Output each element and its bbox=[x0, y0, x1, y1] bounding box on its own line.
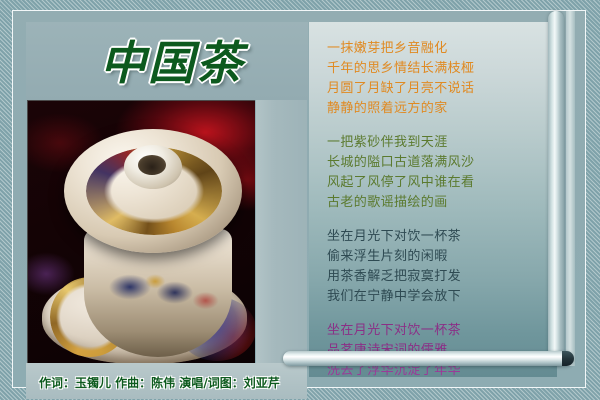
lyrics-stanza: 坐在月光下对饮一杯茶 偷来浮生片刻的闲暇 用茶香解乏把寂寞打发 我们在宁静中学会… bbox=[327, 227, 551, 307]
lyrics-line: 用茶香解乏把寂寞打发 bbox=[327, 267, 551, 287]
lyrics-line: 偷来浮生片刻的闲暇 bbox=[327, 247, 551, 267]
lyrics-line: 月圆了月缺了月亮不说话 bbox=[327, 79, 551, 99]
lyrics-line: 风起了风停了风中谁在看 bbox=[327, 173, 551, 193]
lyrics-line: 坐在月光下对饮一杯茶 bbox=[327, 227, 551, 247]
page-title: 中国茶 bbox=[92, 34, 252, 92]
lyrics-line: 静静的照着远方的家 bbox=[327, 99, 551, 119]
lyrics-line: 千年的思乡情结长满枝桠 bbox=[327, 59, 551, 79]
lyrics-line: 一把紫砂伴我到天涯 bbox=[327, 133, 551, 153]
lyrics-container: 一抹嫩芽把乡音融化 千年的思乡情结长满枝桠 月圆了月缺了月亮不说话 静静的照着远… bbox=[327, 39, 551, 377]
lyrics-panel: 一抹嫩芽把乡音融化 千年的思乡情结长满枝桠 月圆了月缺了月亮不说话 静静的照着远… bbox=[309, 22, 557, 377]
lyrics-line: 长城的隘口古道落满风沙 bbox=[327, 153, 551, 173]
lyrics-stanza: 坐在月光下对饮一杯茶 品茗唐诗宋词的儒雅 洗去了浮华沉淀了年华 我们在时光中回味… bbox=[327, 321, 551, 377]
lyrics-stanza: 一抹嫩芽把乡音融化 千年的思乡情结长满枝桠 月圆了月缺了月亮不说话 静静的照着远… bbox=[327, 39, 551, 119]
lyrics-line: 古老的歌谣描绘的画 bbox=[327, 193, 551, 213]
lyrics-line: 一抹嫩芽把乡音融化 bbox=[327, 39, 551, 59]
cup-decoration bbox=[88, 251, 228, 331]
column-separator bbox=[256, 100, 307, 363]
content-card: 中国茶 作词：玉镯儿 作曲：陈伟 演唱/词图：刘亚芹 一 bbox=[12, 10, 586, 388]
horizontal-scroll-rod bbox=[283, 351, 573, 366]
vertical-scroll-rail bbox=[548, 11, 564, 366]
vertical-rail-shadow bbox=[566, 11, 575, 366]
lid-knob-hollow bbox=[138, 155, 166, 175]
credits-text: 作词：玉镯儿 作曲：陈伟 演唱/词图：刘亚芹 bbox=[39, 373, 309, 393]
lyrics-stanza: 一把紫砂伴我到天涯 长城的隘口古道落满风沙 风起了风停了风中谁在看 古老的歌谣描… bbox=[327, 133, 551, 213]
lyrics-line: 坐在月光下对饮一杯茶 bbox=[327, 321, 551, 341]
left-column: 中国茶 作词：玉镯儿 作曲：陈伟 演唱/词图：刘亚芹 bbox=[26, 22, 308, 398]
lyrics-line: 我们在宁静中学会放下 bbox=[327, 287, 551, 307]
tea-photo-frame bbox=[27, 100, 255, 363]
slideshow-stage: 中国茶 作词：玉镯儿 作曲：陈伟 演唱/词图：刘亚芹 一 bbox=[0, 0, 600, 400]
